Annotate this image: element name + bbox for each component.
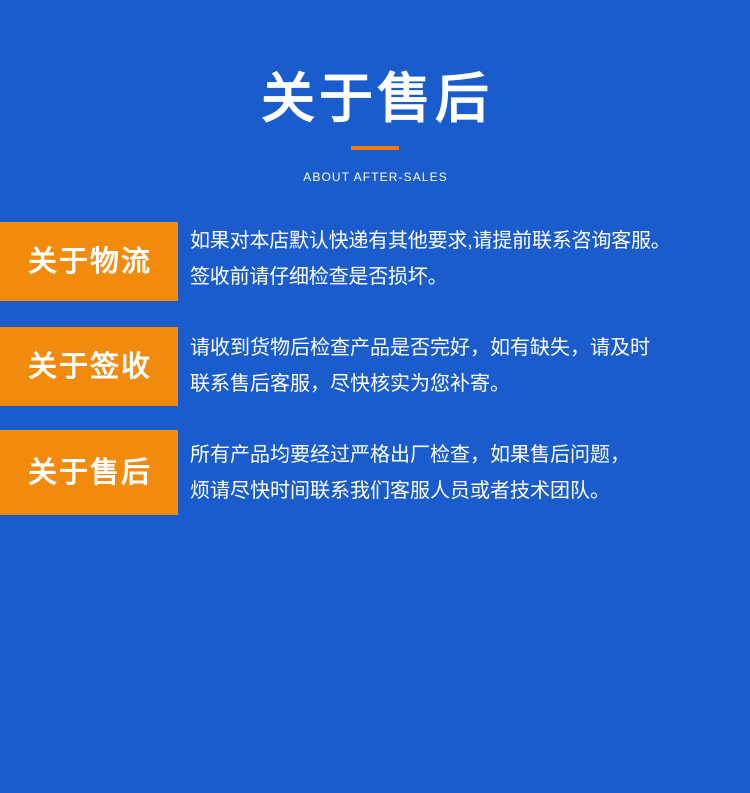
policy-row-logistics: 关于物流 如果对本店默认快递有其他要求,请提前联系咨询客服。 签收前请仔细检查是… [0, 222, 750, 301]
policy-sections: 关于物流 如果对本店默认快递有其他要求,请提前联系咨询客服。 签收前请仔细检查是… [0, 0, 750, 793]
policy-body-line: 签收前请仔细检查是否损坏。 [190, 259, 746, 295]
policy-label-text: 关于签收 [26, 350, 152, 384]
policy-label-text: 关于售后 [26, 456, 152, 490]
policy-body-line: 烦请尽快时间联系我们客服人员或者技术团队。 [190, 473, 746, 509]
policy-body-receipt: 请收到货物后检查产品是否完好，如有缺失，请及时 联系售后客服，尽快核实为您补寄。 [190, 326, 746, 405]
policy-row-receipt: 关于签收 请收到货物后检查产品是否完好，如有缺失，请及时 联系售后客服，尽快核实… [0, 327, 750, 406]
policy-body-logistics: 如果对本店默认快递有其他要求,请提前联系咨询客服。 签收前请仔细检查是否损坏。 [190, 219, 746, 298]
after-sales-banner: 关于售后 ABOUT AFTER-SALES 关于物流 如果对本店默认快递有其他… [0, 0, 750, 793]
policy-label-after-sales: 关于售后 [0, 430, 178, 515]
policy-label-receipt: 关于签收 [0, 327, 178, 406]
policy-body-line: 联系售后客服，尽快核实为您补寄。 [190, 366, 746, 402]
policy-label-logistics: 关于物流 [0, 222, 178, 301]
policy-body-line: 所有产品均要经过严格出厂检查，如果售后问题， [190, 437, 746, 473]
policy-row-after-sales: 关于售后 所有产品均要经过严格出厂检查，如果售后问题， 烦请尽快时间联系我们客服… [0, 430, 750, 515]
policy-body-line: 请收到货物后检查产品是否完好，如有缺失，请及时 [190, 330, 746, 366]
policy-body-after-sales: 所有产品均要经过严格出厂检查，如果售后问题， 烦请尽快时间联系我们客服人员或者技… [190, 430, 746, 515]
policy-label-text: 关于物流 [26, 245, 152, 279]
policy-body-line: 如果对本店默认快递有其他要求,请提前联系咨询客服。 [190, 223, 746, 259]
